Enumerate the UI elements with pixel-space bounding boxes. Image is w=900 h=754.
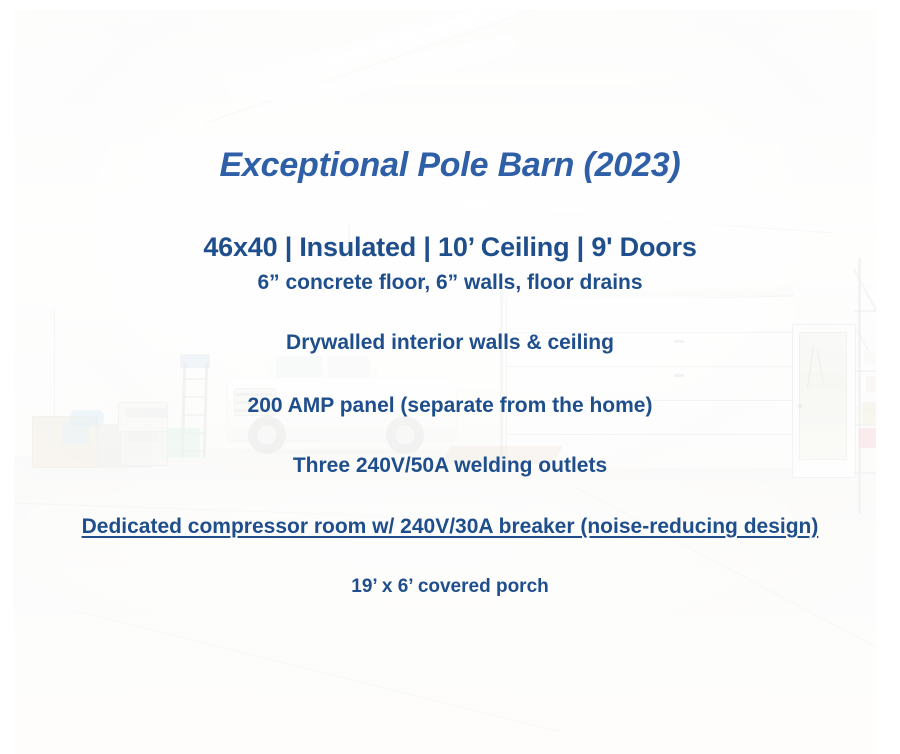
pole-barn-listing-poster: Exceptional Pole Barn (2023) 46x40 | Ins… [0,0,900,754]
listing-text-overlay: Exceptional Pole Barn (2023) 46x40 | Ins… [0,0,900,754]
spec-line-covered-porch: 19’ x 6’ covered porch [0,576,900,598]
spec-line-concrete: 6” concrete floor, 6” walls, floor drain… [0,271,900,295]
spec-line-welding-outlets: Three 240V/50A welding outlets [0,454,900,478]
spec-line-drywall: Drywalled interior walls & ceiling [0,331,900,355]
page-title: Exceptional Pole Barn (2023) [0,146,900,185]
spec-line-compressor-room: Dedicated compressor room w/ 240V/30A br… [0,515,900,539]
spec-line-dimensions: 46x40 | Insulated | 10’ Ceiling | 9' Doo… [0,232,900,263]
spec-line-amp-panel: 200 AMP panel (separate from the home) [0,394,900,418]
